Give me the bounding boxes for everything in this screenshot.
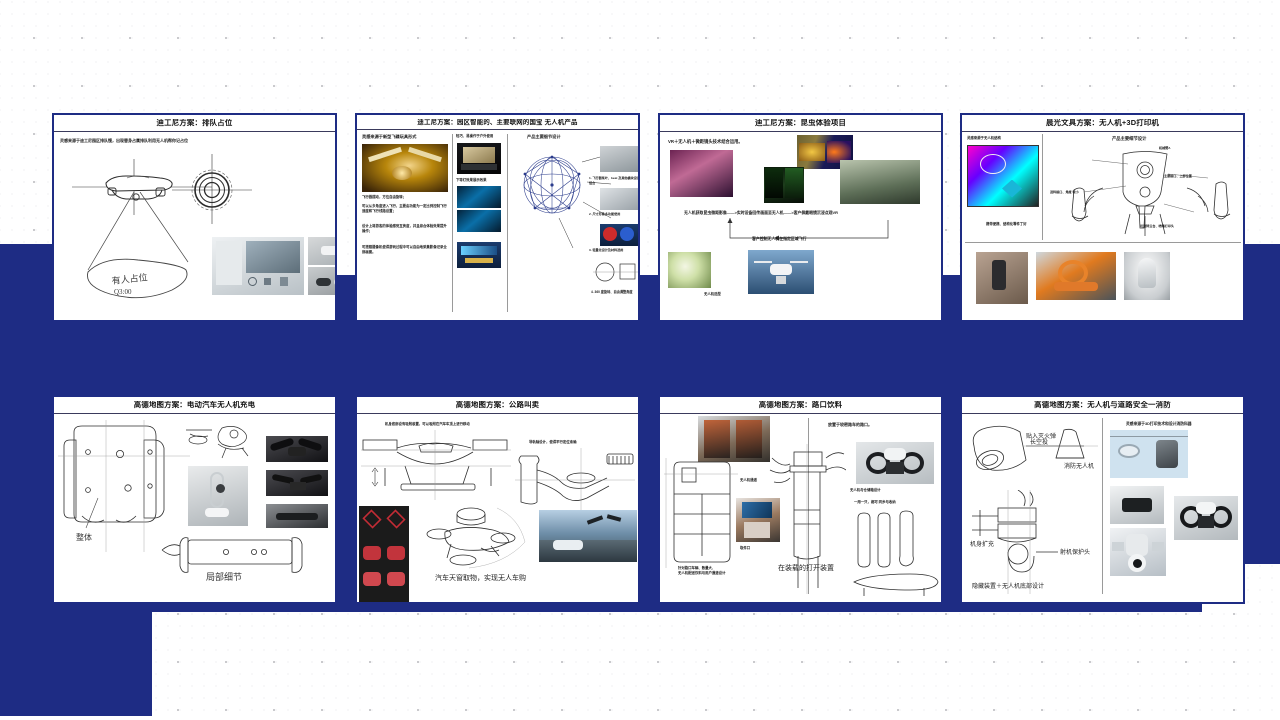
slide-2-paragraph-1: 飞行器摆动，方位自由旋转； (362, 195, 450, 200)
slide-3-title: 迪工尼方案：昆虫体验项目 (666, 119, 935, 128)
slide-3-body: VR＋无人机＋微距镜头技术结合运用。 无人机获取昆虫微距影像——>实时设备回传画… (660, 132, 941, 320)
svg-text:贴入灭火弹: 贴入灭火弹 (1026, 432, 1056, 440)
slide-7-right-note-2: 一用一只，都可 同步与收纳 (854, 500, 896, 505)
slide-3-heading: VR＋无人机＋微距镜头技术结合运用。 (668, 139, 743, 145)
slide-2-body: 灵感来源于新型飞碟玩具形式 飞行器摆动，方位自由旋转； 可以从多角度进入飞行，主… (357, 130, 638, 320)
drone-front-sketch (361, 430, 511, 500)
portfolio-page: 迪工尼方案：排队占位 灵感来源于迪工尼园区排队慢，出现替身占属排队利用无人机帮你… (0, 0, 1280, 720)
slide-thumbnail-7[interactable]: 高德地图方案：路口饮料 放置于较密路车的路口。 (658, 395, 943, 604)
slide-1-body: 灵感来源于迪工尼园区排队慢，出现替身占属排队利用无人机帮你记占位 (54, 132, 335, 320)
component-photo-3 (600, 224, 638, 246)
slide-7-heading: 放置于较密路车的路口。 (828, 422, 872, 428)
neon-drone-photo (967, 145, 1039, 207)
slide-5-body: 整体 (54, 414, 335, 602)
rail-arm-sketch (515, 448, 635, 510)
slide-thumbnail-3[interactable]: 迪工尼方案：昆虫体验项目 VR＋无人机＋微距镜头技术结合运用。 无人机获取昆虫微… (658, 113, 943, 322)
svg-text:射机保护头: 射机保护头 (1060, 548, 1090, 556)
slide-4-divider-h (965, 242, 1241, 243)
slide-7-title-bar: 高德地图方案：路口饮料 (660, 397, 941, 414)
svg-text:长空投: 长空投 (1030, 438, 1048, 446)
slide-4-callout-3: 主要接口、上部位置 (1164, 174, 1192, 179)
slide-6-heading: 机身底部设有吸附装置，可以吸附在汽车车顶上进行移动 (385, 422, 470, 427)
slide-3-title-bar: 迪工尼方案：昆虫体验项目 (660, 115, 941, 132)
highway-photo (539, 510, 637, 562)
slide-2-mid-heading-top: 轻巧、易操作于户外使用 (456, 134, 504, 139)
svg-text:有人占位: 有人占位 (111, 271, 148, 286)
slide-4-title: 晨光文具方案：无人机+3D打印机 (968, 119, 1237, 128)
golden-snitch-photo (362, 144, 448, 192)
slide-2-divider-1 (452, 134, 453, 312)
slide-6-body: 机身底部设有吸附装置，可以吸附在汽车车顶上进行移动 (357, 414, 638, 602)
hand-holding-device-photo (308, 237, 335, 265)
slide-thumbnail-2[interactable]: 迪工尼方案：园区智能的、主要联网的国宝 无人机产品 灵感来源于新型飞碟玩具形式 … (355, 113, 640, 322)
rail-section-sketch: 局部细节 (158, 532, 318, 584)
flower-bee-photo (668, 252, 711, 288)
slide-1-title-bar: 迪工尼方案：排队占位 (54, 115, 335, 132)
product-reference-photo (212, 237, 304, 295)
slide-4-callout-1: 机械臂A (1159, 146, 1171, 151)
slide-4-title-bar: 晨光文具方案：无人机+3D打印机 (962, 115, 1243, 132)
slide-7-label-goods-slot: 取件口 (740, 546, 750, 551)
slide-4-right-heading: 产品主要细节设计 (1112, 136, 1146, 142)
svg-text:隐藏装置＋无人机底部设计: 隐藏装置＋无人机底部设计 (972, 582, 1044, 590)
slide-2-paragraph-3: 设计上将游客的体验感觉互换度，并且综合体验效果提升操作； (362, 224, 450, 234)
drone-exploded-sketch (182, 424, 262, 466)
slide-8-title: 高德地图方案：无人机与道路安全一消防 (968, 401, 1237, 410)
device-pair-photo (308, 267, 335, 295)
storage-box-sketch (664, 458, 738, 568)
slide-8-divider (1102, 418, 1103, 594)
game-poster-photo (457, 242, 501, 268)
component-photo-2 (600, 188, 638, 210)
slide-3-caption: 无人机选型 (704, 292, 721, 297)
orange-drone-photo (1036, 252, 1116, 300)
tablet-photo (457, 143, 501, 174)
white-capsule-photo (1124, 252, 1170, 300)
bottle-sketch (850, 510, 941, 598)
slide-6-title: 高德地图方案：公路叫卖 (363, 401, 632, 410)
svg-text:消防无人机: 消防无人机 (1064, 462, 1094, 470)
slide-2-paragraph-2: 可以从多角度进入飞行，主要由功能为一定比例控制飞行速度和飞行线路设置； (362, 204, 450, 214)
misty-forest-photo (840, 160, 920, 204)
component-detail-sketch (593, 258, 638, 286)
slide-2-left-heading: 灵感来源于新型飞碟玩具形式 (362, 134, 450, 140)
slide-1-subtitle: 灵感来源于迪工尼园区排队慢，出现替身占属排队利用无人机帮你记占位 (60, 138, 325, 144)
ceiling-mount-photo (1110, 430, 1188, 478)
component-photo-1 (600, 146, 638, 172)
slide-6-title-bar: 高德地图方案：公路叫卖 (357, 397, 638, 414)
neon-graphic-photo (457, 186, 501, 208)
slide-2-paragraph-4: 可搭载摄像机使得游玩过程中可以自由地采集影像记录全部画面。 (362, 245, 450, 255)
projection-cone-sketch: 有人占位 Q3:00 (78, 192, 203, 307)
slide-2-callout-2: 2. 尺寸形象多功能使用 (589, 212, 638, 217)
slide-7-label-drone-storage: 无人机通道 (740, 478, 757, 483)
black-drone-photo-3 (266, 504, 328, 528)
slide-2-mid-heading-bottom: 下等灯效果展示效果 (456, 178, 504, 183)
forest-pink-photo (670, 150, 733, 197)
svg-text:整体: 整体 (76, 532, 92, 542)
slide-4-callout-2: 进料接口、角度 较小 (1050, 190, 1079, 195)
slide-2-bottom-note: 4. 360 度旋转、自由调整角度 (591, 290, 633, 295)
slide-5-title-bar: 高德地图方案：电动汽车无人机充电 (54, 397, 335, 414)
slide-2-title: 迪工尼方案：园区智能的、主要联网的国宝 无人机产品 (363, 119, 632, 126)
slide-4-left-heading: 灵感来源于无人机结构 (967, 136, 1039, 141)
black-drone-photo-8 (1174, 496, 1238, 540)
slide-7-body: 放置于较密路车的路口。 无人机通道 (660, 414, 941, 602)
slide-thumbnail-1[interactable]: 迪工尼方案：排队占位 灵感来源于迪工尼园区排队慢，出现替身占属排队利用无人机帮你… (52, 113, 337, 322)
vending-machine-photo (698, 416, 770, 462)
night-vision-photo (764, 167, 804, 203)
gimbal-camera-photo (1110, 528, 1166, 576)
black-drone-photo (856, 442, 934, 484)
slide-thumbnail-8[interactable]: 高德地图方案：无人机与道路安全一消防 灵感来源于3D打印技术和设计消防科器 贴入… (960, 395, 1245, 604)
black-drone-photo-1 (266, 436, 328, 462)
drone-on-car-sketch: 汽车天窗取物，实现无人车购 (411, 498, 531, 584)
slide-1-title: 迪工尼方案：排队占位 (60, 119, 329, 128)
svg-text:汽车天窗取物，实现无人车购: 汽车天窗取物，实现无人车购 (435, 573, 526, 582)
slide-2-callout-1: 1. 飞行器桨叶、beat 及其他模块设计组合 (589, 176, 638, 185)
slide-4-body: 灵感来源于无人机结构 携带便携、结构化零件丁好 产品主要细节设计 (962, 132, 1243, 320)
slide-thumbnail-4[interactable]: 晨光文具方案：无人机+3D打印机 灵感来源于无人机结构 携带便携、结构化零件丁好… (960, 113, 1245, 322)
slide-3-flow-back-text: 客户控制无人机在指定区域飞行 (752, 236, 806, 242)
slide-4-left-caption: 携带便携、结构化零件丁好 (986, 222, 1027, 227)
pod-sketch: 贴入灭火弹 长空投 消防无人机 (968, 424, 1098, 486)
slide-3-flow-text: 无人机获取昆虫微距影像——>实时设备回传画面至无人机——>客户佩戴眼镜沉浸点观V… (684, 210, 838, 216)
quadcopter-photo (748, 250, 814, 294)
black-drone-photo-2 (266, 470, 328, 496)
slide-8-right-heading: 灵感来源于3D打印技术和设计消防科器 (1126, 422, 1192, 428)
slide-thumbnail-6[interactable]: 高德地图方案：公路叫卖 机身底部设有吸附装置，可以吸附在汽车车顶上进行移动 (355, 395, 640, 604)
slide-4-callout-4: 可旋转云台、喷嘴打印头 (1140, 224, 1174, 229)
slide-6-side-note: 导轨轴设计，使得平行定位准确 (529, 440, 576, 445)
hand-holding-photo (976, 252, 1028, 304)
slide-7-title: 高德地图方案：路口饮料 (666, 401, 935, 410)
svg-text:局部细节: 局部细节 (206, 571, 242, 582)
svg-text:在装载的打开装置: 在装载的打开装置 (778, 563, 834, 572)
svg-text:Q3:00: Q3:00 (114, 288, 132, 296)
slide-thumbnail-5[interactable]: 高德地图方案：电动汽车无人机充电 整体 (52, 395, 337, 604)
slide-8-title-bar: 高德地图方案：无人机与道路安全一消防 (962, 397, 1243, 414)
svg-text:机身扩充: 机身扩充 (970, 540, 994, 548)
slide-7-right-note-1: 无人机与仓储箱设计 (850, 488, 881, 493)
slide-5-title: 高德地图方案：电动汽车无人机充电 (60, 401, 329, 410)
slide-8-body: 灵感来源于3D打印技术和设计消防科器 贴入灭火弹 长空投 消防无人机 (962, 414, 1243, 602)
white-module-photo (1110, 486, 1164, 524)
slide-3-flow-arrows (678, 216, 918, 248)
slide-2-title-bar: 迪工尼方案：园区智能的、主要联网的国宝 无人机产品 (357, 115, 638, 130)
red-component-photo (359, 506, 409, 602)
white-product-photo (188, 466, 248, 526)
slide-2-callout-3: 3. 轻量化设计及材料选用 (589, 248, 638, 253)
road-marker-sketch: 机身扩充 射机保护头 隐藏装置＋无人机底部设计 (968, 490, 1098, 594)
dispenser-sketch: 在装载的打开装置 (768, 444, 846, 594)
blue-tech-photo (457, 210, 501, 232)
slide-4-divider-v (1042, 134, 1043, 240)
